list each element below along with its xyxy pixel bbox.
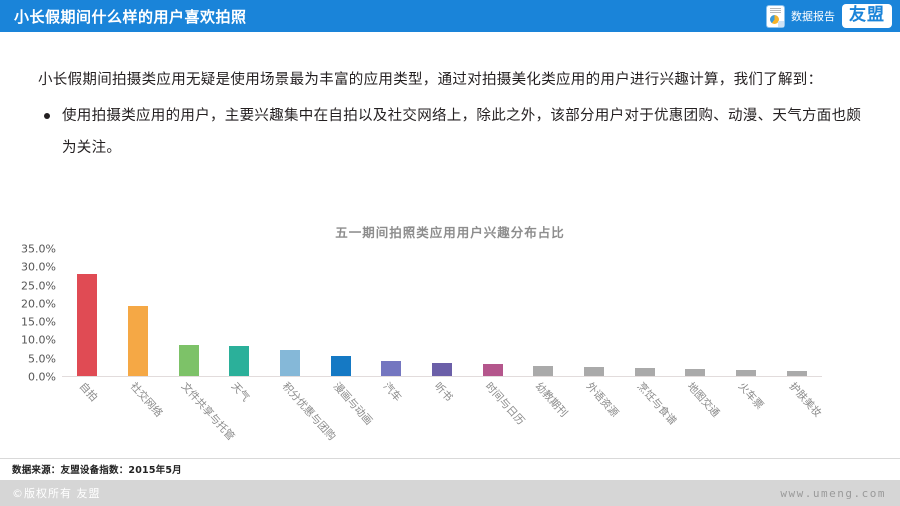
bar-slot	[417, 248, 468, 376]
bar-slot	[569, 248, 620, 376]
bar[interactable]	[432, 363, 452, 376]
bar[interactable]	[280, 350, 300, 376]
bar-slot	[670, 248, 721, 376]
y-axis-tick-label: 10.0%	[21, 334, 56, 347]
bar-slot	[721, 248, 772, 376]
x-axis-category-label: 自拍	[76, 379, 101, 405]
intro-paragraph: 小长假期间拍摄类应用无疑是使用场景最为丰富的应用类型，通过对拍摄美化类应用的用户…	[38, 64, 868, 96]
chart-title: 五一期间拍照类应用用户兴趣分布占比	[0, 222, 900, 241]
header-right-group: 数据报告 友盟	[767, 0, 892, 32]
x-label-slot: 外语资源	[569, 377, 620, 399]
website-url: www.umeng.com	[780, 487, 886, 500]
chart-container: 五一期间拍照类应用用户兴趣分布占比 35.0%30.0%25.0%20.0%15…	[0, 222, 900, 462]
bar[interactable]	[584, 367, 604, 376]
header-underline	[0, 32, 900, 35]
y-axis-tick-label: 20.0%	[21, 297, 56, 310]
bar-slot	[214, 248, 265, 376]
bar-slot	[771, 248, 822, 376]
document-lines-icon	[770, 8, 781, 13]
x-label-slot: 听书	[417, 377, 468, 399]
x-label-slot: 护肤美妆	[771, 377, 822, 399]
bar-series	[62, 248, 822, 376]
x-axis-category-label: 天气	[228, 379, 253, 405]
body-copy: 小长假期间拍摄类应用无疑是使用场景最为丰富的应用类型，通过对拍摄美化类应用的用户…	[38, 64, 868, 164]
x-label-slot: 文件共享与托管	[163, 377, 214, 399]
x-axis-category-label: 汽车	[380, 379, 405, 405]
x-axis-category-label: 社交网络	[127, 379, 166, 420]
brand-logo: 友盟	[842, 4, 892, 28]
footer-bar: ©版权所有 友盟 www.umeng.com	[0, 480, 900, 506]
x-label-slot: 汽车	[366, 377, 417, 399]
x-axis-labels: 自拍社交网络文件共享与托管天气积分优惠与团购漫画与动画汽车听书时间与日历幼教期刊…	[62, 377, 822, 399]
x-label-slot: 时间与日历	[467, 377, 518, 399]
bar-slot	[62, 248, 113, 376]
bar-slot	[619, 248, 670, 376]
x-label-slot: 地图交通	[670, 377, 721, 399]
x-axis-category-label: 外语资源	[583, 379, 622, 420]
bar[interactable]	[533, 366, 553, 376]
bar-slot	[518, 248, 569, 376]
bar[interactable]	[331, 356, 351, 376]
bar[interactable]	[685, 369, 705, 376]
bar[interactable]	[128, 306, 148, 376]
slide-root: 小长假期间什么样的用户喜欢拍照 数据报告 友盟 小长假期间拍摄类应用无疑是使用场…	[0, 0, 900, 506]
copyright-text: ©版权所有 友盟	[12, 485, 101, 501]
x-label-slot: 自拍	[62, 377, 113, 399]
bar-slot	[163, 248, 214, 376]
x-label-slot: 幼教期刊	[518, 377, 569, 399]
bar[interactable]	[381, 361, 401, 376]
x-label-slot: 积分优惠与团购	[265, 377, 316, 399]
bar-slot	[366, 248, 417, 376]
bullet-text: 使用拍摄类应用的用户，主要兴趣集中在自拍以及社交网络上，除此之外，该部分用户对于…	[62, 100, 868, 164]
x-axis-category-label: 火车票	[735, 379, 767, 412]
bar-slot	[467, 248, 518, 376]
x-label-slot: 天气	[214, 377, 265, 399]
bar-slot	[265, 248, 316, 376]
bar-slot	[315, 248, 366, 376]
x-label-slot: 火车票	[721, 377, 772, 399]
report-document-icon	[767, 6, 784, 27]
y-axis-tick-label: 0.0%	[28, 371, 56, 384]
x-axis-category-label: 地图交通	[684, 379, 723, 420]
chart-plot-area: 35.0%30.0%25.0%20.0%15.0%10.0%5.0%0.0% 自…	[62, 249, 867, 399]
bar[interactable]	[635, 368, 655, 376]
y-axis-tick-label: 5.0%	[28, 352, 56, 365]
bar[interactable]	[483, 364, 503, 376]
y-axis-tick-label: 25.0%	[21, 279, 56, 292]
source-note: 数据来源：友盟设备指数：2015年5月	[12, 462, 182, 476]
bullet-dot-icon	[44, 113, 50, 119]
x-axis-category-label: 听书	[431, 379, 456, 405]
bar[interactable]	[229, 346, 249, 376]
x-axis-category-label: 护肤美妆	[786, 379, 825, 420]
x-label-slot: 烹饪与食谱	[619, 377, 670, 399]
x-label-slot: 社交网络	[113, 377, 164, 399]
bullet-item: 使用拍摄类应用的用户，主要兴趣集中在自拍以及社交网络上，除此之外，该部分用户对于…	[38, 100, 868, 164]
header-bar: 小长假期间什么样的用户喜欢拍照 数据报告 友盟	[0, 0, 900, 32]
bar[interactable]	[179, 345, 199, 376]
x-axis-category-label: 幼教期刊	[532, 379, 571, 420]
x-label-slot: 漫画与动画	[315, 377, 366, 399]
bar-slot	[113, 248, 164, 376]
y-axis: 35.0%30.0%25.0%20.0%15.0%10.0%5.0%0.0%	[0, 249, 56, 377]
page-fold-corner	[778, 21, 784, 27]
page-title: 小长假期间什么样的用户喜欢拍照	[14, 6, 247, 27]
y-axis-tick-label: 35.0%	[21, 243, 56, 256]
bar[interactable]	[77, 274, 97, 376]
y-axis-tick-label: 15.0%	[21, 316, 56, 329]
y-axis-tick-label: 30.0%	[21, 261, 56, 274]
report-label: 数据报告	[791, 8, 835, 24]
source-divider	[0, 458, 900, 459]
